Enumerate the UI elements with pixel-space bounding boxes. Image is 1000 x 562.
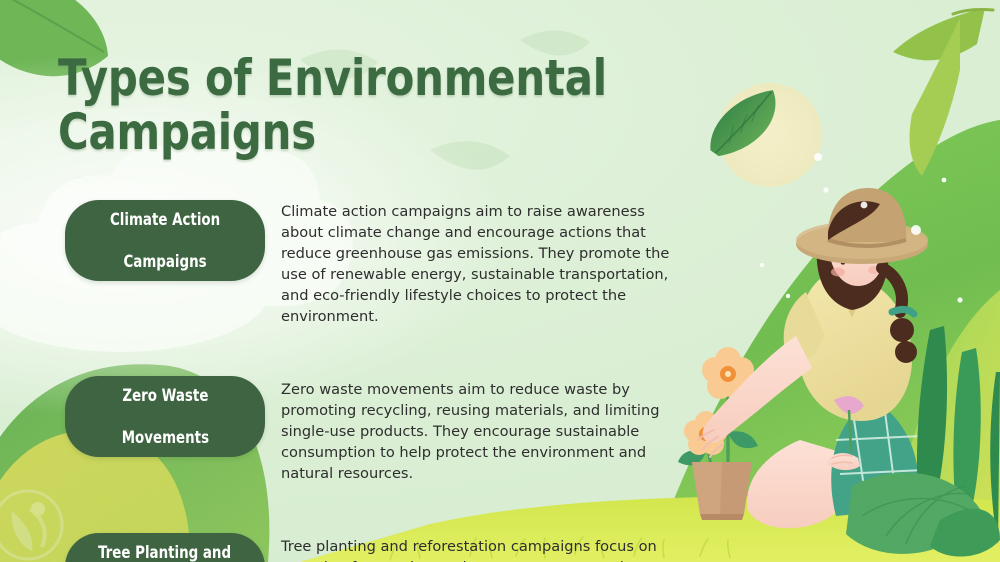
- campaign-row: Tree Planting and Reforestation Tree pla…: [0, 519, 680, 562]
- slide-root: Types of Environmental Campaigns Climate…: [0, 0, 1000, 562]
- campaign-pill-label-line2: Campaigns: [110, 251, 220, 272]
- campaign-description-tree-planting: Tree planting and reforestation campaign…: [281, 534, 680, 562]
- campaign-row: Zero Waste Movements Zero waste movement…: [0, 362, 680, 499]
- campaign-description-zero-waste: Zero waste movements aim to reduce waste…: [281, 377, 680, 485]
- campaign-description-climate-action: Climate action campaigns aim to raise aw…: [281, 201, 680, 328]
- campaign-pill-zero-waste[interactable]: Zero Waste Movements: [65, 376, 265, 457]
- campaign-pill-label-line1: Tree Planting and: [99, 542, 232, 562]
- content-column: Types of Environmental Campaigns Climate…: [0, 0, 680, 562]
- page-title: Types of Environmental Campaigns: [58, 52, 616, 159]
- campaign-pill-label-line1: Climate Action: [110, 209, 220, 230]
- campaign-list: Climate Action Campaigns Climate action …: [0, 186, 680, 562]
- campaign-row: Climate Action Campaigns Climate action …: [0, 186, 680, 342]
- campaign-pill-tree-planting[interactable]: Tree Planting and Reforestation: [65, 533, 265, 562]
- campaign-pill-label-line2: Movements: [121, 427, 208, 448]
- campaign-pill-label-line1: Zero Waste: [121, 385, 208, 406]
- campaign-pill-climate-action[interactable]: Climate Action Campaigns: [65, 200, 265, 281]
